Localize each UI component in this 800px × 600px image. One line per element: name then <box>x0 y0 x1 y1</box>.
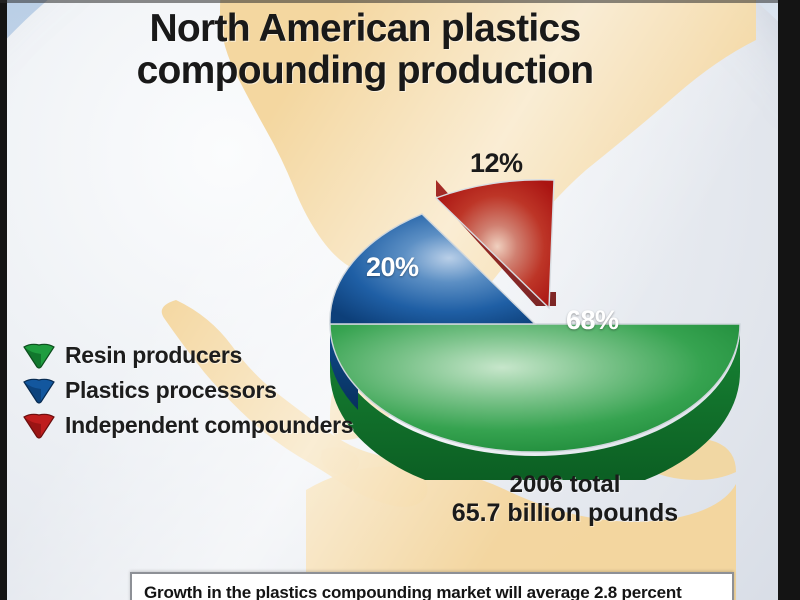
pie-wedge-icon-red <box>22 413 56 439</box>
pie-label-plastics-processors: 20% <box>366 252 419 283</box>
legend-item-resin-producers: Resin producers <box>22 338 382 373</box>
title-line-2: compounding production <box>55 50 675 92</box>
legend-item-plastics-processors: Plastics processors <box>22 373 382 408</box>
infographic-root: North American plastics compounding prod… <box>0 0 800 600</box>
total-year-label: 2006 total <box>420 472 710 499</box>
page-title: North American plastics compounding prod… <box>55 8 675 92</box>
pie-label-independent-compounders: 12% <box>470 148 523 179</box>
caption-text: Growth in the plastics compounding marke… <box>144 582 724 600</box>
legend: Resin producers Plastics processors Inde… <box>22 338 382 443</box>
total-value-label: 65.7 billion pounds <box>420 499 710 527</box>
pie-chart-svg <box>318 110 748 480</box>
frame-right-edge: Plastics News graphic by Scott Merryw <box>778 0 800 600</box>
frame-top-edge <box>0 0 800 3</box>
pie-chart: 12% 20% 68% <box>318 110 748 480</box>
caption-box: Growth in the plastics compounding marke… <box>130 572 734 600</box>
pie-label-resin-producers: 68% <box>566 305 619 336</box>
pie-wedge-icon-green <box>22 343 56 369</box>
total-annotation: 2006 total 65.7 billion pounds <box>420 472 710 527</box>
frame-left-edge <box>0 0 7 600</box>
legend-item-independent-compounders: Independent compounders <box>22 408 382 443</box>
legend-label: Independent compounders <box>65 412 353 439</box>
legend-label: Plastics processors <box>65 377 277 404</box>
pie-wedge-icon-blue <box>22 378 56 404</box>
legend-label: Resin producers <box>65 342 242 369</box>
title-line-1: North American plastics <box>149 7 580 50</box>
